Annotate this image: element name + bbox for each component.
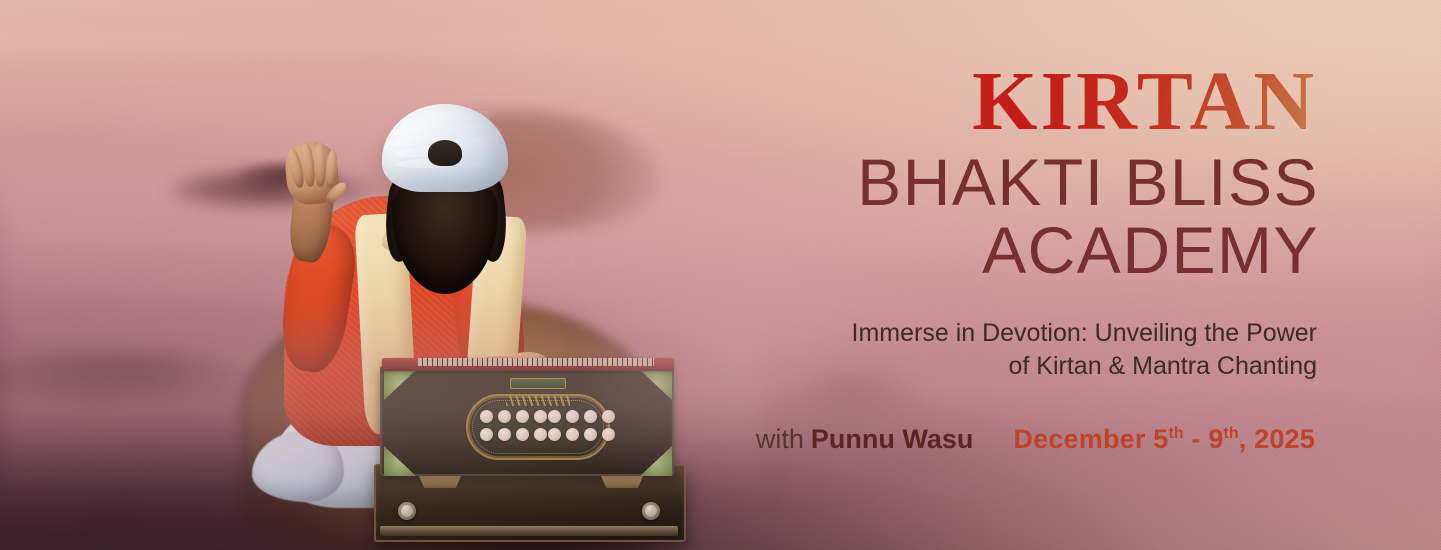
- harmonium-handle-right: [600, 474, 644, 488]
- turban-knot: [428, 140, 462, 166]
- harmonium-keyboard[interactable]: [418, 358, 654, 366]
- harmonium-stop-knob[interactable]: [602, 428, 615, 441]
- harmonium-stop-knob[interactable]: [498, 410, 511, 423]
- page-title: BHAKTI BLISS ACADEMY: [701, 149, 1319, 285]
- date-start-suffix: th: [1169, 425, 1184, 442]
- presenter-name: Punnu Wasu: [811, 424, 974, 454]
- harmonium-corner-bottom-left: [384, 446, 416, 476]
- harmonium-corner-bottom-right: [640, 446, 672, 476]
- date-end-day: 9: [1208, 424, 1223, 454]
- harmonium-stop-knob[interactable]: [516, 428, 529, 441]
- harmonium-front-panel: [380, 366, 674, 476]
- harmonium-top-trim: [382, 358, 674, 371]
- subtitle: Immerse in Devotion: Unveiling the Power…: [701, 317, 1317, 384]
- presenter-and-date-row: withPunnu Wasu December 5th - 9th, 2025: [701, 424, 1315, 455]
- harmonium-stop-knob[interactable]: [602, 410, 615, 423]
- harmonium-screw-right: [642, 502, 660, 520]
- harmonium-handle-left: [418, 474, 462, 488]
- presenter: withPunnu Wasu: [756, 424, 974, 455]
- harmonium-stop-knob[interactable]: [548, 428, 561, 441]
- harmonium-stop-knob[interactable]: [480, 428, 493, 441]
- harmonium-stop-knob[interactable]: [498, 428, 511, 441]
- harmonium-stop-knob-row-bottom-left[interactable]: [480, 428, 547, 441]
- harmonium-stop-knob[interactable]: [480, 410, 493, 423]
- date-range-separator: -: [1191, 424, 1200, 454]
- date-end-suffix: th: [1224, 425, 1239, 442]
- subtitle-line-2: of Kirtan & Mantra Chanting: [701, 350, 1317, 384]
- date-start-day: 5: [1153, 424, 1168, 454]
- harmonium: [374, 356, 686, 550]
- presenter-prefix: with: [756, 424, 804, 454]
- title-line-2: ACADEMY: [701, 217, 1319, 285]
- harmonium-stop-knob[interactable]: [584, 428, 597, 441]
- harmonium-stop-knob[interactable]: [534, 410, 547, 423]
- harmonium-script-ornament: [506, 396, 570, 406]
- date-month: December: [1013, 424, 1145, 454]
- date-year-separator: ,: [1239, 424, 1247, 454]
- harmonium-stop-knob[interactable]: [548, 410, 561, 423]
- harmonium-stop-knob[interactable]: [534, 428, 547, 441]
- harmonium-stop-knob[interactable]: [584, 410, 597, 423]
- harmonium-base-rail: [380, 526, 678, 536]
- harmonium-stop-knob-row-top-right[interactable]: [548, 410, 615, 423]
- date-year: 2025: [1254, 424, 1315, 454]
- harmonium-brand-plate: [510, 378, 566, 389]
- harmonium-screw-left: [398, 502, 416, 520]
- harmonium-corner-top-left: [384, 370, 416, 400]
- banner-copy-block: KIRTAN BHAKTI BLISS ACADEMY Immerse in D…: [701, 62, 1321, 455]
- harmonium-stop-knob[interactable]: [566, 428, 579, 441]
- harmonium-stop-knob-row-top-left[interactable]: [480, 410, 547, 423]
- subtitle-line-1: Immerse in Devotion: Unveiling the Power: [852, 319, 1317, 347]
- kicker-kirtan: KIRTAN: [701, 62, 1317, 143]
- kirtan-promo-banner: KIRTAN BHAKTI BLISS ACADEMY Immerse in D…: [0, 0, 1441, 550]
- hand-finger-ring: [314, 143, 327, 187]
- event-dates: December 5th - 9th, 2025: [1013, 424, 1315, 455]
- harmonium-stop-knob[interactable]: [516, 410, 529, 423]
- title-line-1: BHAKTI BLISS: [857, 145, 1319, 219]
- harmonium-corner-top-right: [640, 370, 672, 400]
- harmonium-oval-dotted-trim: [472, 400, 604, 454]
- harmonium-stop-knob-row-bottom-right[interactable]: [548, 428, 615, 441]
- harmonium-stop-knob[interactable]: [566, 410, 579, 423]
